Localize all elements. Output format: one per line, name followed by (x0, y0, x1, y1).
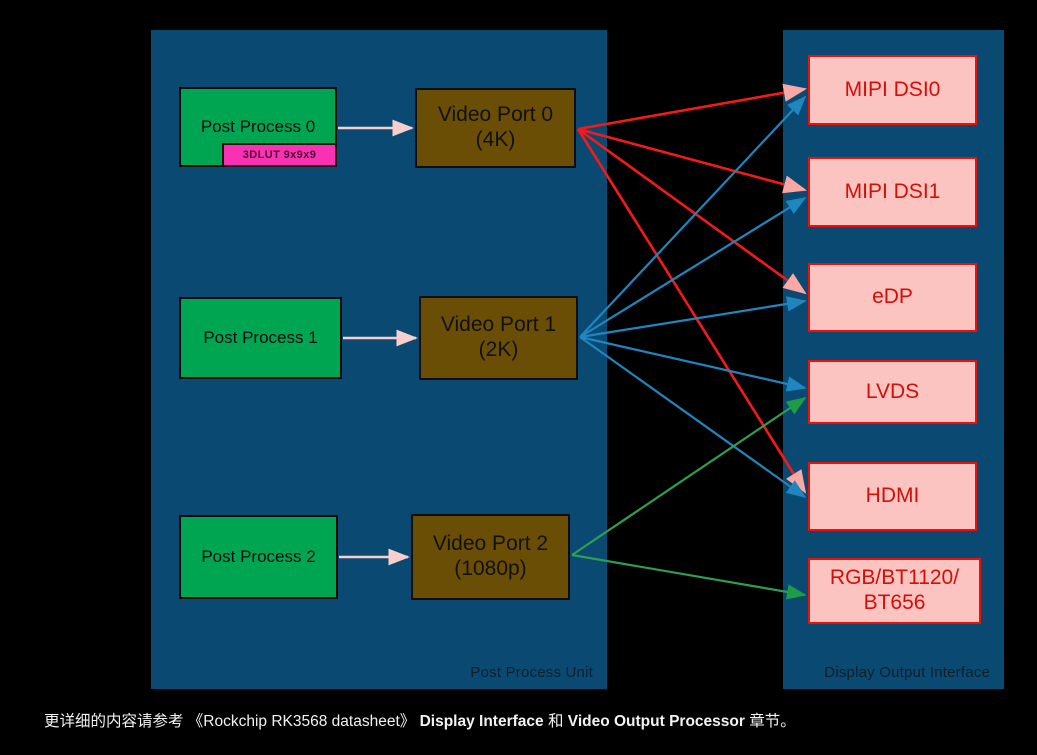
caption-bold-video-output-processor: Video Output Processor (568, 713, 745, 730)
arrow-vp1-to-mipi-dsi1 (580, 198, 805, 337)
output-mipi-dsi1-box[interactable]: MIPI DSI1 (808, 157, 977, 227)
output-edp-label: eDP (872, 285, 913, 310)
post-process-1-box[interactable]: Post Process 1 (179, 297, 342, 379)
output-hdmi-box[interactable]: HDMI (808, 462, 977, 531)
post-process-unit-label: Post Process Unit (470, 664, 593, 681)
caption-part2: 章节。 (745, 713, 796, 730)
video-port-2-box[interactable]: Video Port 2 (1080p) (411, 514, 570, 600)
output-lvds-box[interactable]: LVDS (808, 360, 977, 424)
lut-chip-3dlut[interactable]: 3DLUT 9x9x9 (222, 143, 337, 167)
video-port-2-name: Video Port 2 (433, 532, 548, 557)
video-port-0-name: Video Port 0 (438, 103, 553, 128)
footnote-caption: 更详细的内容请参考 《Rockchip RK3568 datasheet》 Di… (44, 709, 796, 731)
video-port-1-resolution: (2K) (479, 338, 519, 363)
video-port-0-box[interactable]: Video Port 0 (4K) (415, 88, 576, 168)
post-process-2-box[interactable]: Post Process 2 (179, 515, 338, 599)
arrow-vp0-to-edp (578, 129, 805, 293)
caption-part1: 更详细的内容请参考 《Rockchip RK3568 datasheet》 (44, 713, 420, 730)
output-mipi-dsi0-label: MIPI DSI0 (845, 78, 941, 103)
video-port-0-resolution: (4K) (476, 128, 516, 153)
post-process-2-label: Post Process 2 (201, 547, 315, 567)
output-hdmi-label: HDMI (866, 484, 920, 509)
display-output-interface-label: Display Output Interface (824, 664, 990, 681)
video-port-1-box[interactable]: Video Port 1 (2K) (419, 296, 578, 380)
arrow-vp1-to-edp (580, 301, 805, 337)
output-mipi-dsi1-label: MIPI DSI1 (845, 180, 941, 205)
output-edp-box[interactable]: eDP (808, 263, 977, 332)
arrow-vp1-to-lvds (580, 337, 805, 388)
arrow-vp1-to-hdmi (580, 337, 805, 497)
arrow-vp0-to-hdmi (578, 129, 805, 492)
output-bt656-label: BT656 (864, 591, 926, 616)
post-process-0-label: Post Process 0 (201, 117, 315, 137)
lut-chip-label: 3DLUT 9x9x9 (243, 149, 317, 161)
output-rgb-bt1120-label: RGB/BT1120/ (830, 566, 959, 591)
arrow-vp0-to-mipi-dsi0 (578, 89, 805, 129)
output-mipi-dsi0-box[interactable]: MIPI DSI0 (808, 55, 977, 125)
caption-mid: 和 (544, 713, 568, 730)
output-lvds-label: LVDS (866, 380, 919, 405)
arrow-vp0-to-mipi-dsi1 (578, 129, 805, 190)
post-process-1-label: Post Process 1 (203, 328, 317, 348)
video-port-2-resolution: (1080p) (454, 557, 526, 582)
arrow-vp1-to-mipi-dsi0 (580, 97, 805, 337)
diagram-canvas: Post Process Unit Display Output Interfa… (0, 0, 1037, 755)
caption-bold-display-interface: Display Interface (420, 713, 544, 730)
output-rgb-bt1120-bt656-box[interactable]: RGB/BT1120/ BT656 (808, 558, 981, 624)
video-port-1-name: Video Port 1 (441, 313, 556, 338)
